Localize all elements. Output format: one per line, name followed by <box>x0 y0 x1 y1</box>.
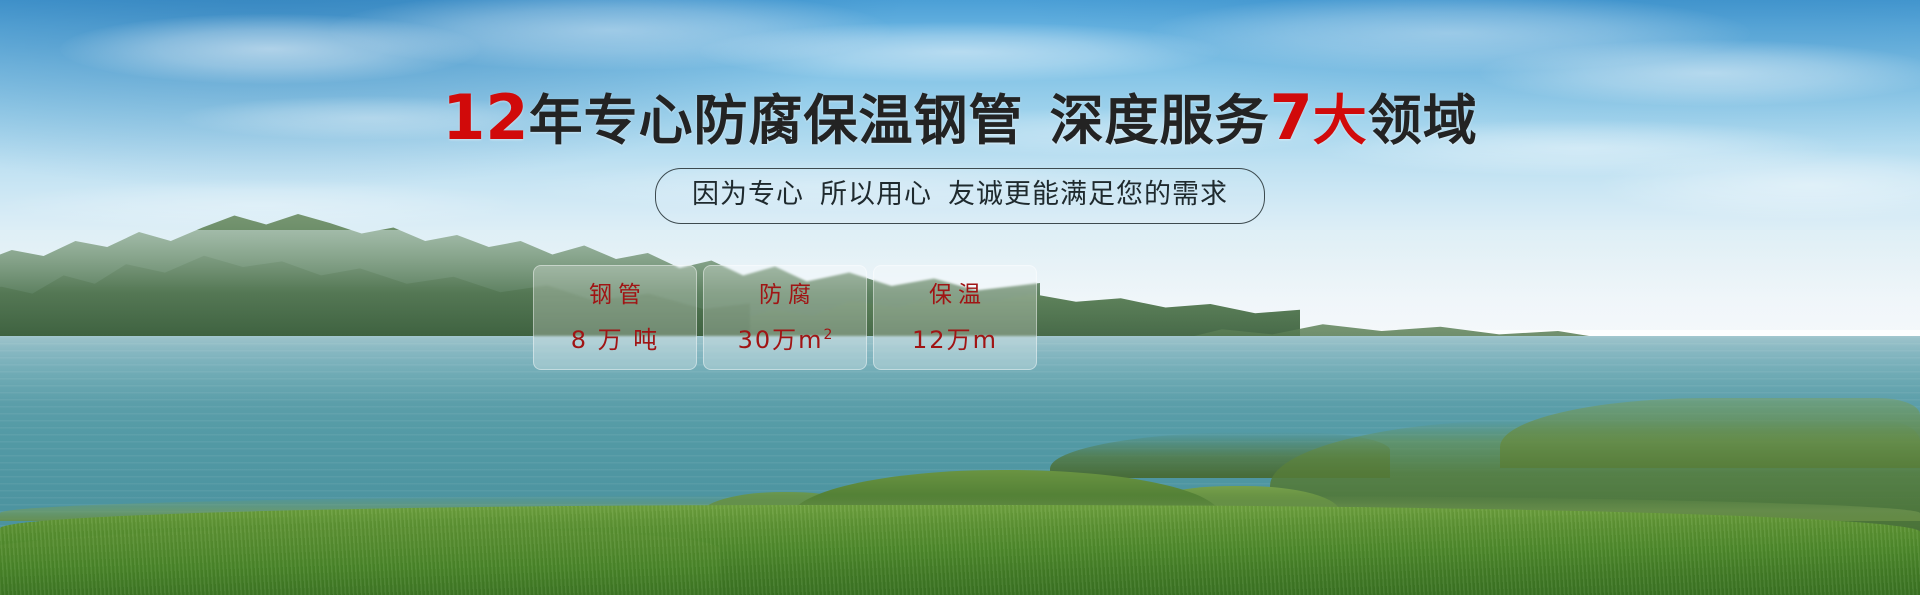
subtitle-part-2: 所以用心 <box>820 179 932 210</box>
stat-card-value: 30万m2 <box>738 320 833 355</box>
subtitle-part-3: 友诚更能满足您的需求 <box>948 179 1228 210</box>
stat-card-value-sup: 2 <box>824 327 833 343</box>
stat-card-anticorrosion: 防腐 30万m2 <box>703 265 867 370</box>
stat-card-title: 钢管 <box>583 280 647 310</box>
stat-card-value-text: 12万m <box>912 326 998 354</box>
stat-card-title: 防腐 <box>753 280 817 310</box>
stat-card-value-text: 8 万 吨 <box>571 326 660 354</box>
headline-service-text: 深度服务 <box>1050 89 1270 152</box>
stat-card-steel-pipe: 钢管 8 万 吨 <box>533 265 697 370</box>
stat-card-title: 保温 <box>923 280 987 310</box>
hero-banner: 12年专心防腐保温钢管深度服务7大领域 因为专心所以用心友诚更能满足您的需求 钢… <box>0 0 1920 595</box>
stat-card-group: 钢管 8 万 吨 防腐 30万m2 保温 12万m <box>533 265 1037 370</box>
banner-headline: 12年专心防腐保温钢管深度服务7大领域 <box>0 88 1920 151</box>
stat-card-value-text: 30万m <box>738 326 824 354</box>
banner-content: 12年专心防腐保温钢管深度服务7大领域 因为专心所以用心友诚更能满足您的需求 钢… <box>0 0 1920 595</box>
headline-fields-text: 领域 <box>1368 89 1478 152</box>
stat-card-value: 8 万 吨 <box>571 320 660 355</box>
headline-main-text: 年专心防腐保温钢管 <box>529 89 1024 152</box>
headline-years-number: 12 <box>442 81 528 154</box>
headline-fields-number: 7 <box>1270 81 1313 154</box>
stat-card-value: 12万m <box>912 320 998 355</box>
banner-subtitle-pill: 因为专心所以用心友诚更能满足您的需求 <box>655 168 1265 224</box>
headline-fields-measure: 大 <box>1313 89 1368 152</box>
stat-card-insulation: 保温 12万m <box>873 265 1037 370</box>
subtitle-part-1: 因为专心 <box>692 179 804 210</box>
